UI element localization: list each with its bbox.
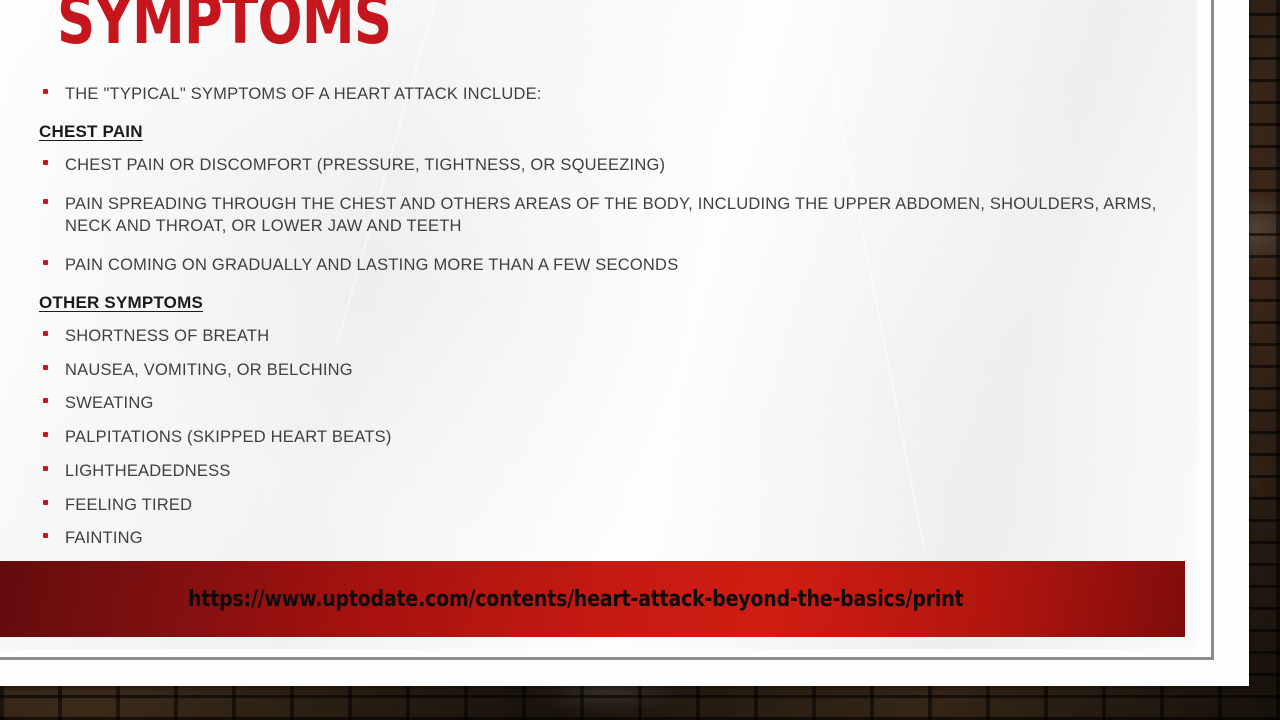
list-item: CHEST PAIN OR DISCOMFORT (PRESSURE, TIGH… <box>39 154 1159 177</box>
list-item: PALPITATIONS (SKIPPED HEART BEATS) <box>39 426 1159 449</box>
list-item-label: SWEATING <box>65 394 154 412</box>
source-url-link[interactable]: https://www.uptodate.com/contents/heart-… <box>188 587 963 612</box>
list-item: LIGHTHEADEDNESS <box>39 460 1159 483</box>
section-heading-chest-pain: CHEST PAIN <box>39 122 1159 142</box>
bullet-dot-icon <box>43 331 48 336</box>
bullet-dot-icon <box>43 432 48 437</box>
section-heading-other-symptoms: OTHER SYMPTOMS <box>39 293 1159 313</box>
slide-body: THE "TYPICAL" SYMPTOMS OF A HEART ATTACK… <box>39 83 1159 561</box>
list-item: NAUSEA, VOMITING, OR BELCHING <box>39 359 1159 382</box>
bullet-dot-icon <box>43 533 48 538</box>
list-item: FEELING TIRED <box>39 494 1159 517</box>
list-item: PAIN SPREADING THROUGH THE CHEST AND OTH… <box>39 193 1159 239</box>
list-item-label: FAINTING <box>65 529 143 547</box>
list-item: SWEATING <box>39 392 1159 415</box>
bullet-dot-icon <box>43 89 48 94</box>
list-item-label: PAIN SPREADING THROUGH THE CHEST AND OTH… <box>65 195 1157 236</box>
list-item-label: CHEST PAIN OR DISCOMFORT (PRESSURE, TIGH… <box>65 156 665 174</box>
list-item: FAINTING <box>39 527 1159 550</box>
bullet-dot-icon <box>43 466 48 471</box>
bullet-dot-icon <box>43 500 48 505</box>
list-item-label: SHORTNESS OF BREATH <box>65 327 269 345</box>
slide-content-panel: SYMPTOMS THE "TYPICAL" SYMPTOMS OF A HEA… <box>0 0 1197 649</box>
bullet-dot-icon <box>43 260 48 265</box>
list-item-label: FEELING TIRED <box>65 496 192 514</box>
list-item: SHORTNESS OF BREATH <box>39 325 1159 348</box>
list-item-label: NAUSEA, VOMITING, OR BELCHING <box>65 361 353 379</box>
list-item-label: THE "TYPICAL" SYMPTOMS OF A HEART ATTACK… <box>65 85 542 103</box>
source-url-banner: https://www.uptodate.com/contents/heart-… <box>0 561 1185 637</box>
bullet-dot-icon <box>43 365 48 370</box>
slide-stage: SYMPTOMS THE "TYPICAL" SYMPTOMS OF A HEA… <box>0 0 1280 720</box>
list-item-label: LIGHTHEADEDNESS <box>65 462 231 480</box>
list-item: PAIN COMING ON GRADUALLY AND LASTING MOR… <box>39 254 1159 277</box>
slide-white-mat: SYMPTOMS THE "TYPICAL" SYMPTOMS OF A HEA… <box>0 0 1249 686</box>
bullet-dot-icon <box>43 398 48 403</box>
list-item-label: PAIN COMING ON GRADUALLY AND LASTING MOR… <box>65 256 678 274</box>
bullet-dot-icon <box>43 199 48 204</box>
page-title: SYMPTOMS <box>57 0 391 55</box>
bullet-dot-icon <box>43 160 48 165</box>
list-item: THE "TYPICAL" SYMPTOMS OF A HEART ATTACK… <box>39 83 1159 106</box>
list-item-label: PALPITATIONS (SKIPPED HEART BEATS) <box>65 428 392 446</box>
slide-gray-frame: SYMPTOMS THE "TYPICAL" SYMPTOMS OF A HEA… <box>0 0 1214 660</box>
